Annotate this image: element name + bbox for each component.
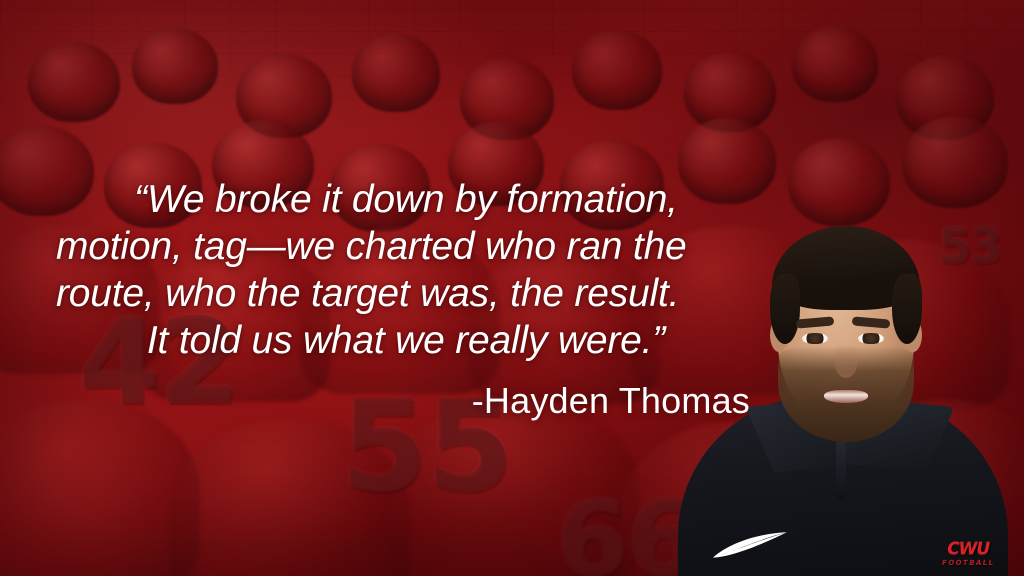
team-logo-text: CWU (945, 539, 991, 559)
quote-line-2: motion, tag—we charted who ran the (56, 223, 756, 270)
quote-line-3: route, who the target was, the result. (56, 270, 756, 317)
nike-swoosh-icon (708, 532, 790, 562)
portrait-cutout: CWU FOOTBALL (660, 200, 1024, 576)
quote-attribution: -Hayden Thomas (56, 380, 756, 422)
hair-side-right (892, 274, 922, 344)
team-logo-subtext: FOOTBALL (941, 559, 995, 567)
hair-side-left (770, 274, 800, 344)
quote-line-4: It told us what we really were.” (56, 317, 756, 364)
mouth (824, 390, 868, 403)
quote-line-1: “We broke it down by formation, (56, 176, 756, 223)
eye-left (802, 333, 828, 344)
team-logo: CWU FOOTBALL (932, 536, 1004, 570)
nose (834, 342, 858, 378)
eye-right (858, 333, 884, 344)
quote-graphic: 42 55 66 53 “We broke it down by formati… (0, 0, 1024, 576)
quote-block: “We broke it down by formation, motion, … (56, 176, 756, 422)
